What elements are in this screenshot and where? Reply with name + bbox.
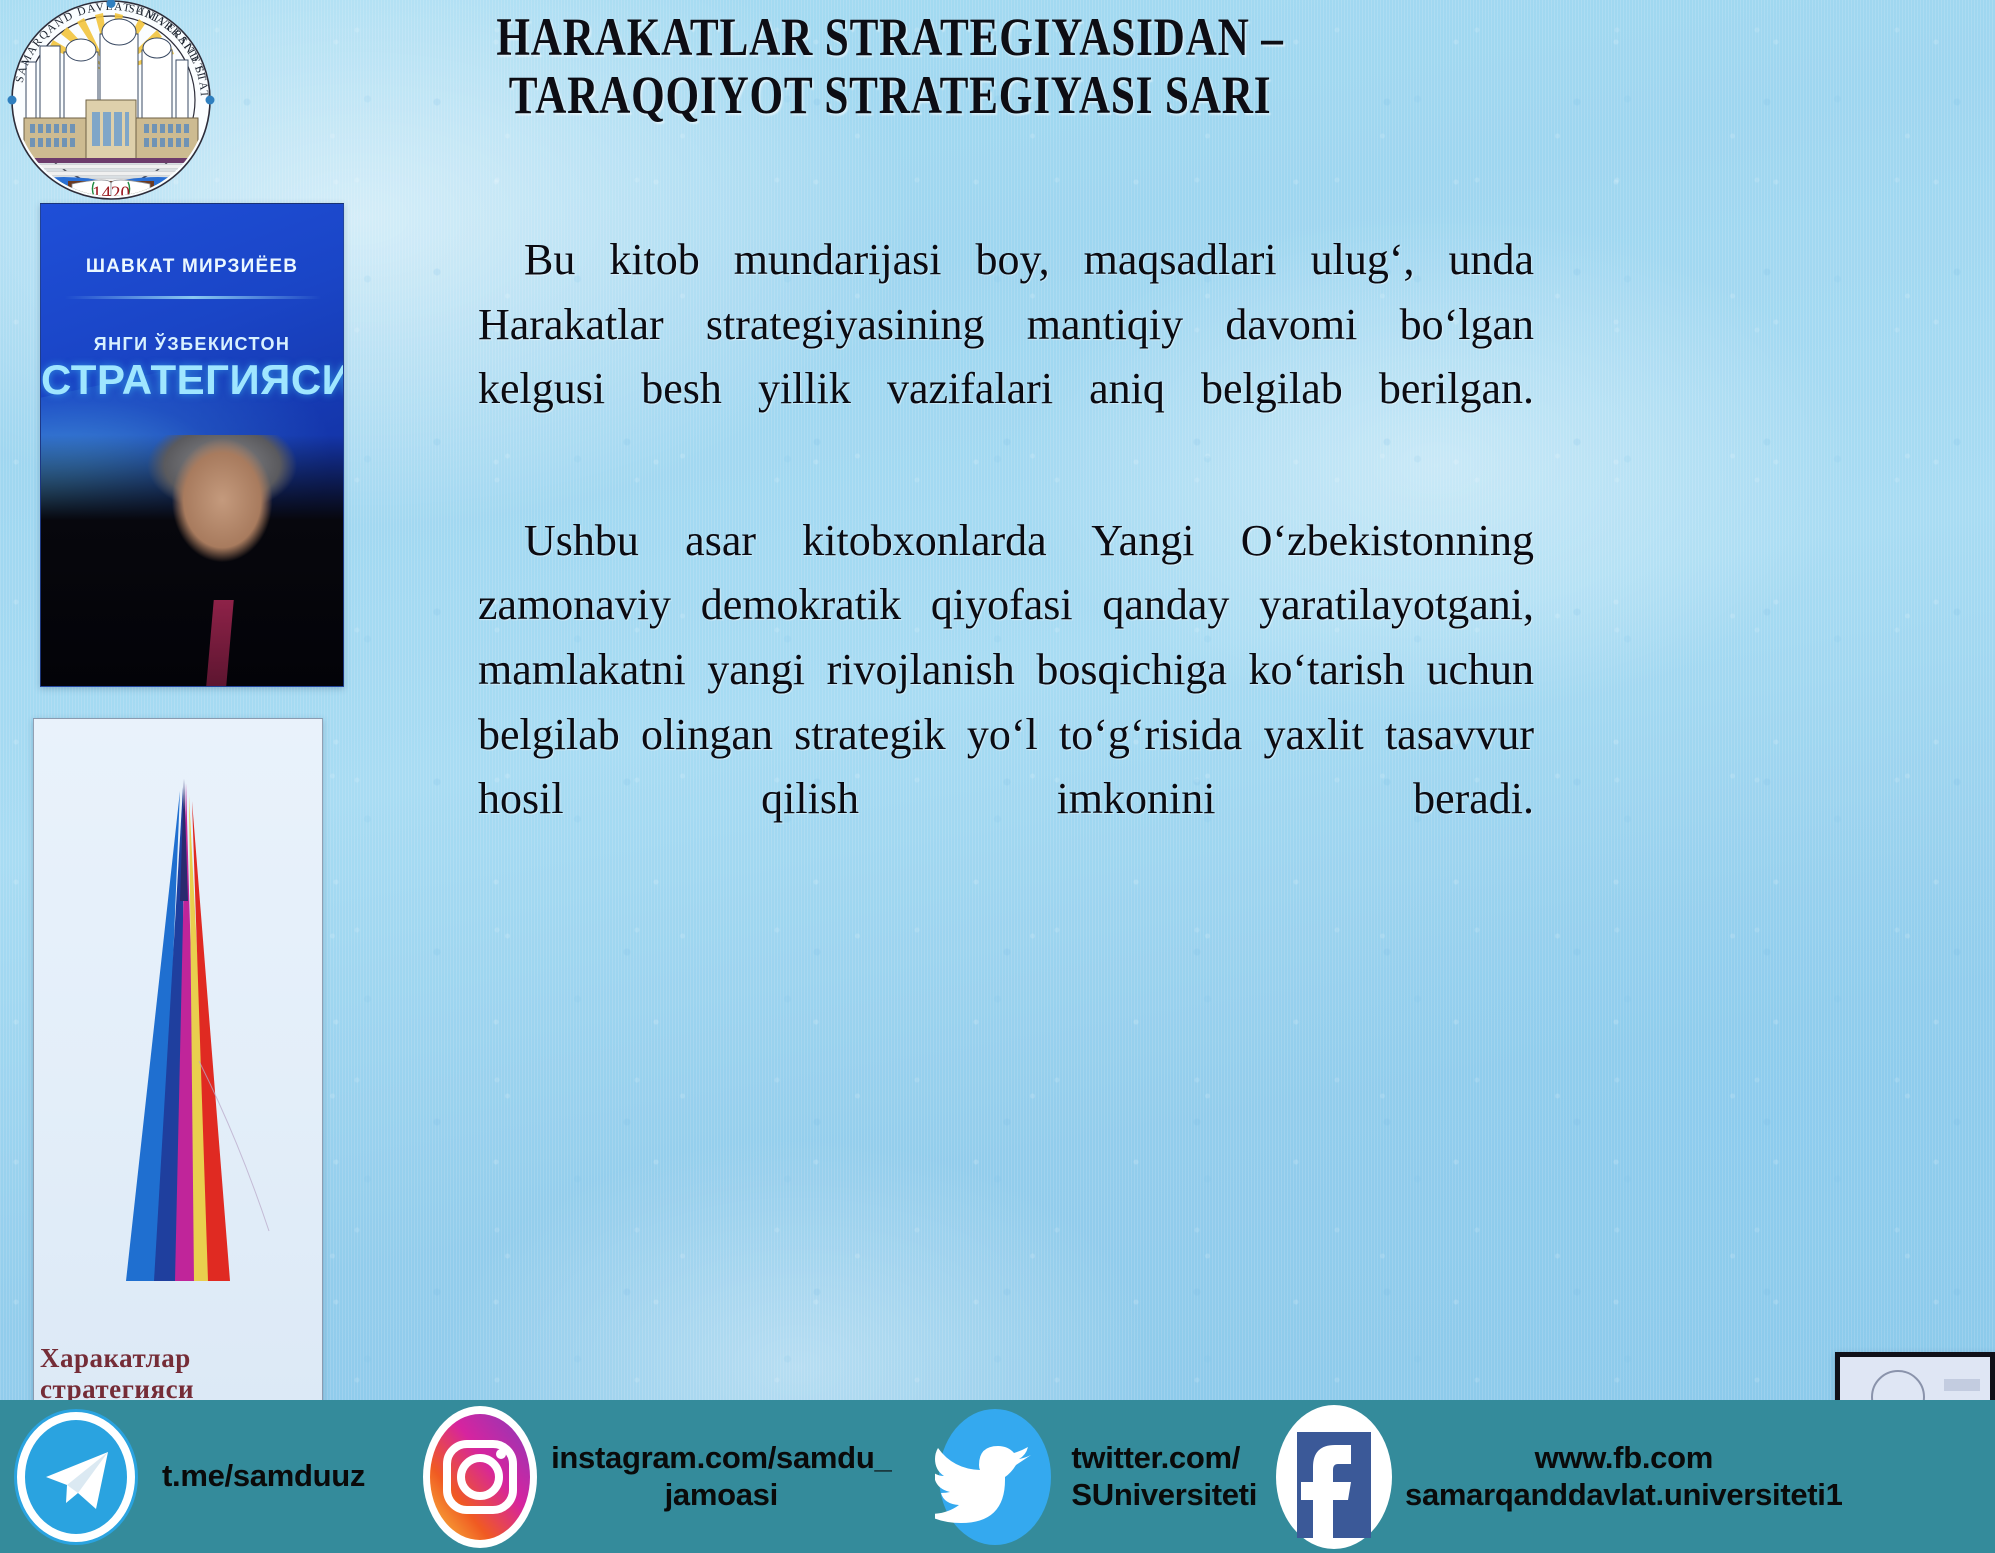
body-paragraph-2: Ushbu asar kitobxonlarda Yangi O‘zbekist… <box>478 509 1534 897</box>
social-media-footer: t.me/samduuz <box>0 1400 1995 1553</box>
body-text-block: Bu kitob mundarijasi boy, maqsadlari ulu… <box>478 228 1534 897</box>
facebook-label: www.fb.com samarqanddavlat.universiteti1 <box>1405 1440 1843 1513</box>
page-title: HARAKATLAR STRATEGIYASIDAN – TARAQQIYOT … <box>418 8 1362 125</box>
book-cover-subtitle: ЯНГИ ЎЗБЕКИСТОН <box>41 334 343 355</box>
twitter-label: twitter.com/ SUniversiteti <box>1071 1440 1257 1513</box>
book-cover-divider <box>65 296 321 299</box>
logo-card-caption: Харакатлар стратегияси <box>40 1343 323 1405</box>
footer-item-twitter[interactable]: twitter.com/ SUniversiteti <box>917 1407 1257 1547</box>
book-cover-title: СТРАТЕГИЯСИ <box>41 356 343 404</box>
telegram-icon[interactable] <box>12 1407 140 1547</box>
book-cover-photo: ШАВКАТ МИРЗИЁЕВ ЯНГИ ЎЗБЕКИСТОН СТРАТЕГИ… <box>40 203 344 687</box>
portrait-necktie <box>206 600 234 686</box>
telegram-label: t.me/samduuz <box>162 1458 365 1495</box>
book-cover-portrait <box>41 435 343 686</box>
footer-item-instagram[interactable]: instagram.com/samdu_ jamoasi <box>399 1404 891 1550</box>
instagram-icon[interactable] <box>421 1404 539 1550</box>
instagram-label: instagram.com/samdu_ jamoasi <box>551 1440 891 1513</box>
harakatlar-strategiyasi-logo-photo: Харакатлар стратегияси <box>33 718 323 1408</box>
facebook-icon[interactable] <box>1273 1402 1395 1552</box>
twitter-icon[interactable] <box>935 1407 1055 1547</box>
footer-item-telegram[interactable]: t.me/samduuz <box>0 1407 365 1547</box>
body-paragraph-1: Bu kitob mundarijasi boy, maqsadlari ulu… <box>478 228 1534 487</box>
presentation-slide: 1420 SAMARQAND DAVLAT UNIVERSITETI SAMAR… <box>0 0 1995 1553</box>
book-cover-author: ШАВКАТ МИРЗИЁЕВ <box>41 256 343 278</box>
footer-item-facebook[interactable]: www.fb.com samarqanddavlat.universiteti1 <box>1265 1402 1843 1552</box>
samarkand-state-university-emblem: 1420 SAMARQAND DAVLAT UNIVERSITETI SAMAR… <box>4 0 218 200</box>
flame-logo-icon <box>34 761 323 1321</box>
